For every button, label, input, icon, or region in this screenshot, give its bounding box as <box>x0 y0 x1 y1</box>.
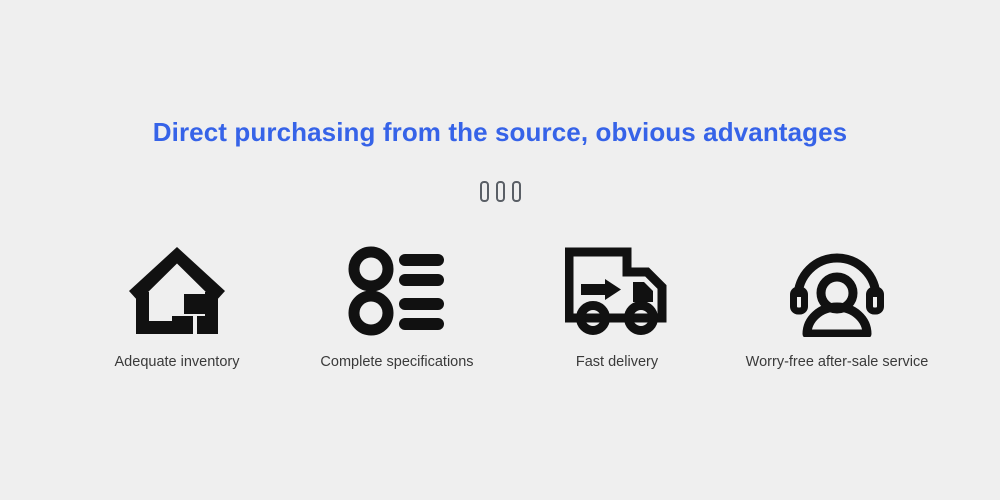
feature-item-delivery: Fast delivery <box>507 243 727 371</box>
feature-list: Adequate inventory Complete specific <box>67 243 947 371</box>
divider-pip-3 <box>512 181 521 202</box>
feature-item-inventory: Adequate inventory <box>67 243 287 371</box>
feature-item-specifications: Complete specifications <box>287 243 507 371</box>
feature-label: Adequate inventory <box>115 353 240 371</box>
warehouse-inventory-icon <box>127 243 227 339</box>
three-pill-divider <box>0 181 1000 202</box>
page-title: Direct purchasing from the source, obvio… <box>0 113 1000 151</box>
promo-banner: Direct purchasing from the source, obvio… <box>0 0 1000 500</box>
feature-label: Fast delivery <box>576 353 658 371</box>
feature-item-after-sale-service: Worry-free after-sale service <box>727 243 947 371</box>
specification-list-icon <box>347 243 447 339</box>
divider-pip-2 <box>496 181 505 202</box>
divider-pip-1 <box>480 181 489 202</box>
delivery-truck-icon <box>565 243 669 339</box>
feature-label: Worry-free after-sale service <box>746 353 929 371</box>
customer-service-headset-icon <box>790 243 884 339</box>
feature-label: Complete specifications <box>320 353 473 371</box>
